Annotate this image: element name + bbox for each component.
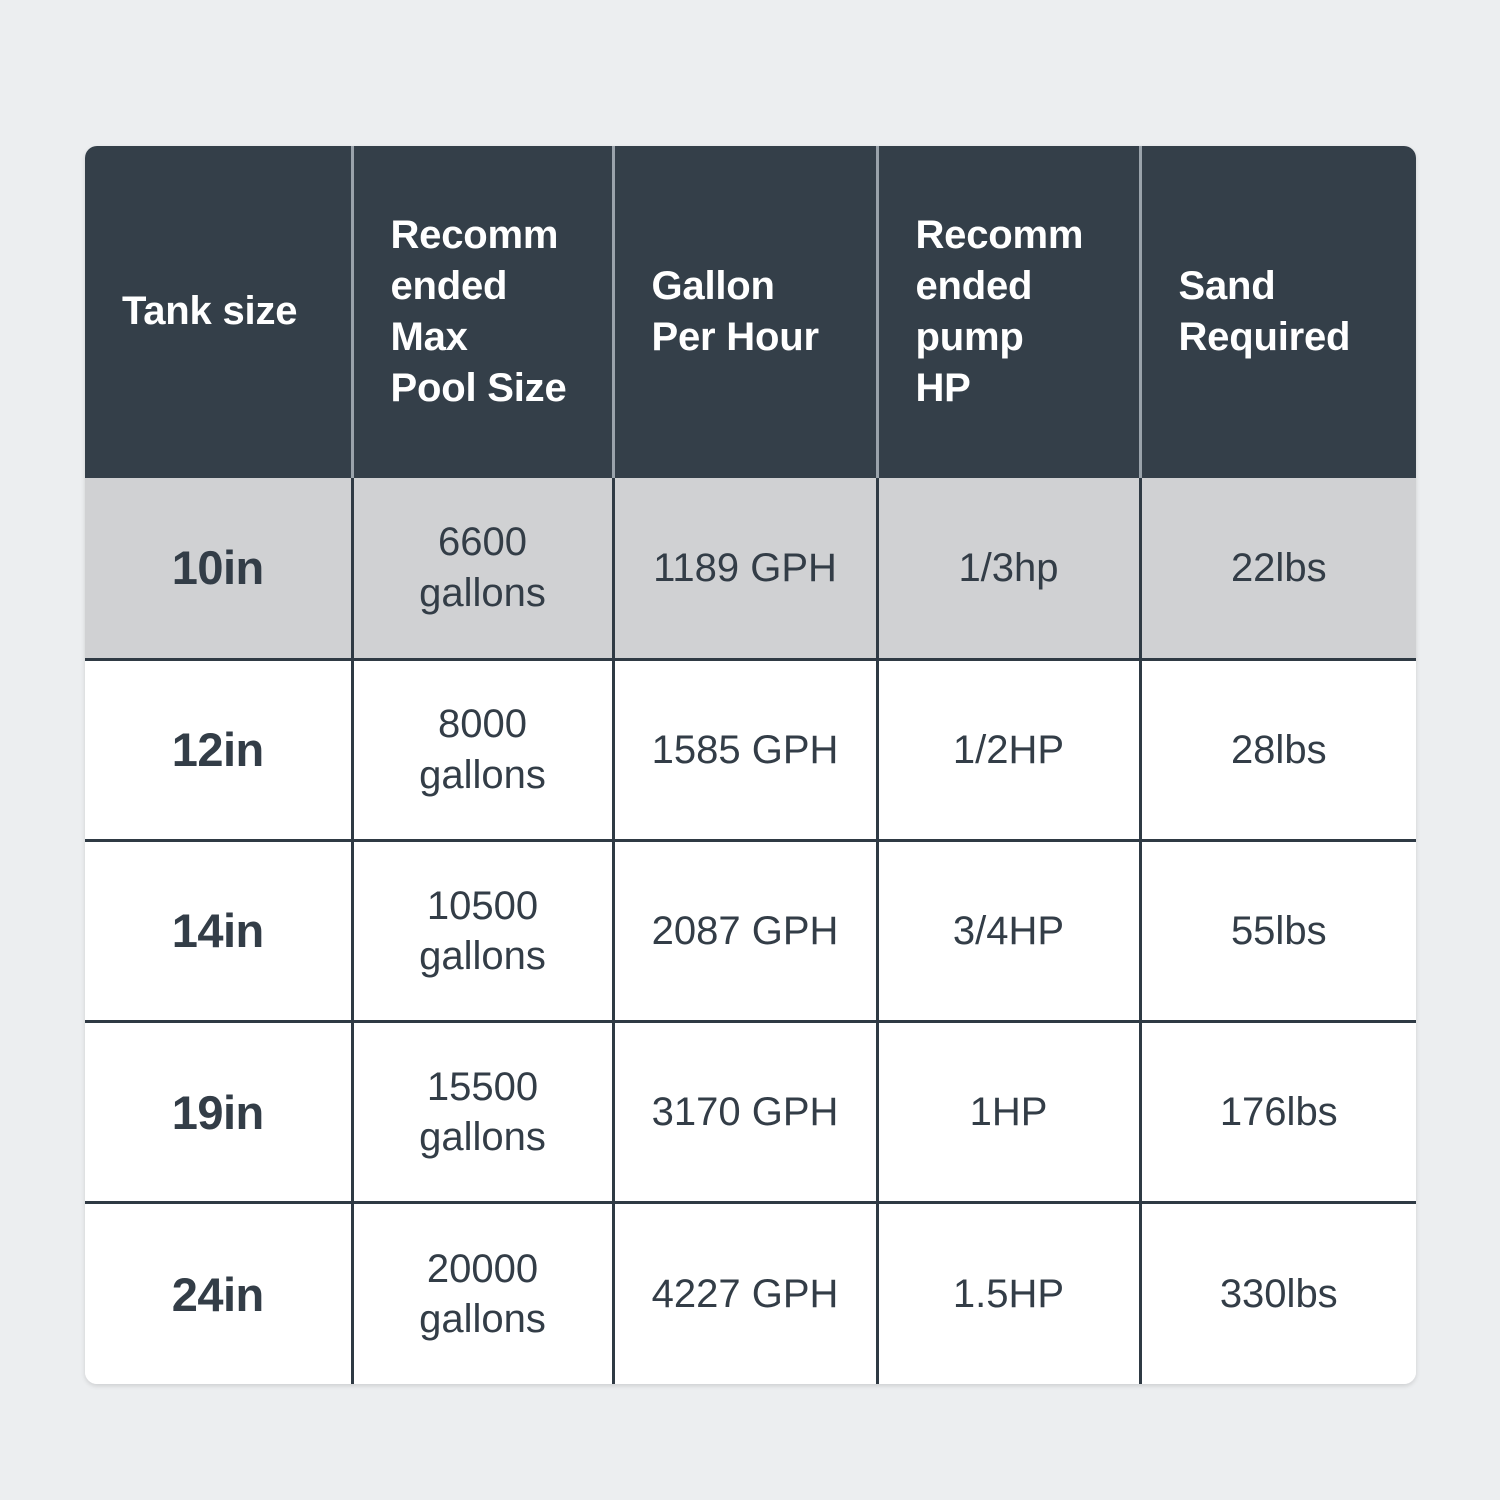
cell-gallon-per-hour: 2087 GPH [613, 840, 877, 1021]
cell-pump-hp: 3/4HP [877, 840, 1140, 1021]
cell-max-pool-size-unit: gallons [354, 1112, 612, 1162]
cell-sand-required: 55lbs [1140, 840, 1416, 1021]
column-header-pump-hp-line-2: ended [916, 261, 1139, 312]
cell-gallon-per-hour: 4227 GPH [613, 1203, 877, 1384]
table-header-row: Tank size Recomm ended Max Pool Size Gal… [85, 146, 1416, 478]
table-row: 12in 8000 gallons 1585 GPH 1/2HP 28lbs [85, 659, 1416, 840]
column-header-gallon-per-hour: Gallon Per Hour [613, 146, 877, 478]
column-header-pump-hp-line-1: Recomm [916, 210, 1139, 261]
table-body: 10in 6600 gallons 1189 GPH 1/3hp 22lbs 1… [85, 478, 1416, 1384]
column-header-gallon-per-hour-line-2: Per Hour [652, 312, 876, 363]
column-header-tank-size-line-1: Tank size [122, 289, 297, 333]
column-header-max-pool-size-line-4: Pool Size [391, 363, 612, 414]
table-row: 19in 15500 gallons 3170 GPH 1HP 176lbs [85, 1022, 1416, 1203]
cell-max-pool-size-value: 10500 [354, 881, 612, 931]
cell-max-pool-size-unit: gallons [354, 931, 612, 981]
cell-max-pool-size: 10500 gallons [352, 840, 613, 1021]
cell-tank-size: 24in [85, 1203, 352, 1384]
cell-max-pool-size-value: 15500 [354, 1062, 612, 1112]
column-header-tank-size: Tank size [85, 146, 352, 478]
cell-gallon-per-hour: 1189 GPH [613, 478, 877, 659]
column-header-pump-hp-line-3: pump [916, 312, 1139, 363]
cell-max-pool-size-value: 20000 [354, 1244, 612, 1294]
cell-gallon-per-hour: 3170 GPH [613, 1022, 877, 1203]
cell-sand-required: 22lbs [1140, 478, 1416, 659]
cell-tank-size: 14in [85, 840, 352, 1021]
cell-pump-hp: 1.5HP [877, 1203, 1140, 1384]
table-header: Tank size Recomm ended Max Pool Size Gal… [85, 146, 1416, 478]
cell-max-pool-size: 8000 gallons [352, 659, 613, 840]
cell-max-pool-size-unit: gallons [354, 750, 612, 800]
cell-tank-size: 12in [85, 659, 352, 840]
cell-max-pool-size-unit: gallons [354, 1294, 612, 1344]
cell-pump-hp: 1/3hp [877, 478, 1140, 659]
cell-sand-required: 330lbs [1140, 1203, 1416, 1384]
page-root: Tank size Recomm ended Max Pool Size Gal… [0, 0, 1500, 1500]
cell-max-pool-size: 15500 gallons [352, 1022, 613, 1203]
cell-tank-size: 19in [85, 1022, 352, 1203]
column-header-max-pool-size-line-2: ended [391, 261, 612, 312]
column-header-pump-hp-line-4: HP [916, 363, 1139, 414]
column-header-sand-required-line-1: Sand [1179, 261, 1417, 312]
column-header-pump-hp: Recomm ended pump HP [877, 146, 1140, 478]
column-header-gallon-per-hour-line-1: Gallon [652, 261, 876, 312]
spec-table: Tank size Recomm ended Max Pool Size Gal… [85, 146, 1416, 1384]
cell-pump-hp: 1HP [877, 1022, 1140, 1203]
table-row: 14in 10500 gallons 2087 GPH 3/4HP 55lbs [85, 840, 1416, 1021]
cell-sand-required: 28lbs [1140, 659, 1416, 840]
table-row: 10in 6600 gallons 1189 GPH 1/3hp 22lbs [85, 478, 1416, 659]
cell-max-pool-size: 6600 gallons [352, 478, 613, 659]
column-header-sand-required-line-2: Required [1179, 312, 1417, 363]
cell-max-pool-size: 20000 gallons [352, 1203, 613, 1384]
cell-max-pool-size-unit: gallons [354, 568, 612, 618]
cell-gallon-per-hour: 1585 GPH [613, 659, 877, 840]
column-header-sand-required: Sand Required [1140, 146, 1416, 478]
cell-pump-hp: 1/2HP [877, 659, 1140, 840]
spec-table-card: Tank size Recomm ended Max Pool Size Gal… [85, 146, 1416, 1384]
column-header-max-pool-size: Recomm ended Max Pool Size [352, 146, 613, 478]
column-header-max-pool-size-line-1: Recomm [391, 210, 612, 261]
cell-tank-size: 10in [85, 478, 352, 659]
cell-max-pool-size-value: 8000 [354, 699, 612, 749]
table-row: 24in 20000 gallons 4227 GPH 1.5HP 330lbs [85, 1203, 1416, 1384]
cell-sand-required: 176lbs [1140, 1022, 1416, 1203]
cell-max-pool-size-value: 6600 [354, 517, 612, 567]
column-header-max-pool-size-line-3: Max [391, 312, 612, 363]
